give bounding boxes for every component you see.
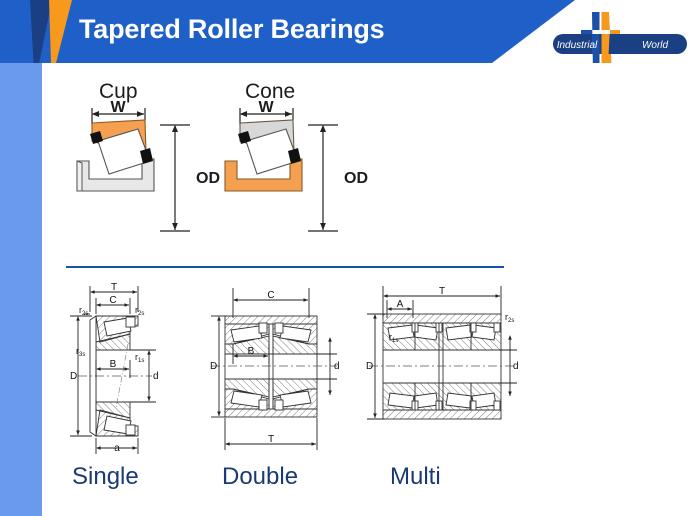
cup-dim-od [160,125,190,231]
cone-body-shapes [225,120,302,191]
cone-dim-w-label: W [258,101,274,116]
single-caption: Single [72,463,139,491]
single-dim-T-label: T [111,282,117,293]
cone-diagram: W OD [210,101,370,261]
single-bearing-diagram: T C B D d a r2s r2s r3s r1s [56,278,206,463]
double-dim-T-label: T [268,434,274,445]
page-title: Tapered Roller Bearings [79,14,385,45]
single-dim-a-label: a [114,443,120,454]
multi-dim-d-label: d [513,361,519,372]
logo-right-text: World [642,40,669,51]
single-dim-r1s-label: r1s [135,352,144,364]
multi-dim-T-label: T [439,286,445,297]
single-dim-r3s-label: r3s [76,346,85,358]
multi-dim-A-label: A [397,299,404,310]
cone-dim-od-label: OD [344,170,368,187]
single-dim-B-label: B [110,359,117,370]
multi-dim-r2s-label: r2s [505,312,514,324]
multi-section-geometry [383,314,501,419]
slide-root: Tapered Roller Bearings Industrial Worl [0,0,700,516]
sidebar-accent-bar [0,63,42,516]
single-dim-d-label: d [153,371,159,382]
double-dim-d-label: d [334,361,340,372]
double-dim-C-label: C [267,290,274,301]
slide-header: Tapered Roller Bearings Industrial Worl [0,0,700,63]
logo-left-text: Industrial [557,40,598,51]
cup-dim-w-label: W [110,101,126,116]
double-dim-B-label: B [248,346,255,357]
multi-dim-D-label: D [366,361,373,372]
single-dim-D-label: D [70,371,77,382]
section-divider [66,266,504,268]
slide-body: Cup Cone Single Double Multi [42,63,700,516]
cone-dim-od [308,125,338,231]
multi-caption: Multi [390,463,441,491]
single-dim-r2s-right-label: r2s [135,305,144,317]
cup-diagram: W [62,101,222,261]
double-caption: Double [222,463,298,491]
double-bearing-diagram: C D d B T [197,278,357,463]
single-dim-C-label: C [109,295,116,306]
cup-body-shapes [77,120,154,191]
multi-bearing-diagram: T A D d r2s r1s [357,278,532,463]
double-section-geometry [225,316,317,417]
single-dim-r2s-top-label: r2s [79,305,88,317]
double-dim-D-label: D [210,361,217,372]
